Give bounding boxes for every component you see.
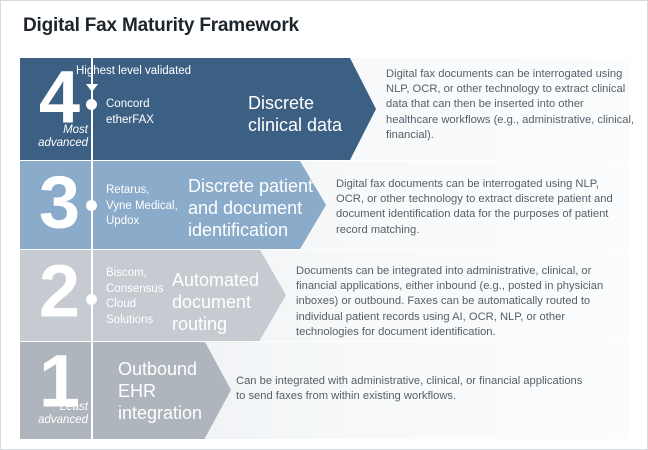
rank-label-most-advanced: Most advanced	[20, 124, 88, 150]
page-title: Digital Fax Maturity Framework	[23, 15, 299, 37]
stage-label-4: Discrete clinical data	[248, 92, 342, 136]
band-arrow-tip	[350, 58, 376, 160]
highest-validated-label: Highest level validated	[76, 65, 191, 77]
band-arrow-tip	[205, 342, 231, 439]
stage-label-2: Automated document routing	[172, 269, 259, 335]
level-description-3: Digital fax documents can be interrogate…	[336, 177, 624, 238]
infographic-frame: Digital Fax Maturity Framework 4 Highest…	[0, 0, 648, 450]
level-number-2: 2	[20, 262, 96, 323]
level-marker-dot	[86, 99, 97, 110]
level-description-4: Digital fax documents can be interrogate…	[386, 67, 636, 143]
vendor-list-4: Concord etherFAX	[106, 97, 154, 128]
vendor-list-3: Retarus, Vyne Medical, Updox	[106, 183, 178, 230]
level-marker-dot	[86, 294, 97, 305]
maturity-row-2: 2 Biscom, Consensus Cloud Solutions Auto…	[20, 250, 630, 341]
vendor-list-2: Biscom, Consensus Cloud Solutions	[106, 266, 164, 328]
level-description-1: Can be integrated with administrative, c…	[236, 374, 588, 404]
level-number-3: 3	[20, 173, 96, 234]
level-description-2: Documents can be integrated into adminis…	[296, 264, 626, 340]
maturity-row-1: 1 Least advanced Outbound EHR integratio…	[20, 342, 630, 439]
validated-pointer-icon	[86, 84, 98, 92]
stage-label-1: Outbound EHR integration	[118, 358, 202, 424]
maturity-chart: 4 Highest level validated Concord etherF…	[20, 58, 630, 439]
stage-label-3: Discrete patient and document identifica…	[188, 175, 313, 241]
band-arrow-tip	[260, 250, 286, 341]
rank-label-least-advanced: Least advanced	[20, 401, 88, 427]
level-marker-dot	[86, 200, 97, 211]
maturity-row-3: 3 Retarus, Vyne Medical, Updox Discrete …	[20, 161, 630, 249]
maturity-row-4: 4 Highest level validated Concord etherF…	[20, 58, 630, 160]
axis-line	[91, 342, 93, 439]
